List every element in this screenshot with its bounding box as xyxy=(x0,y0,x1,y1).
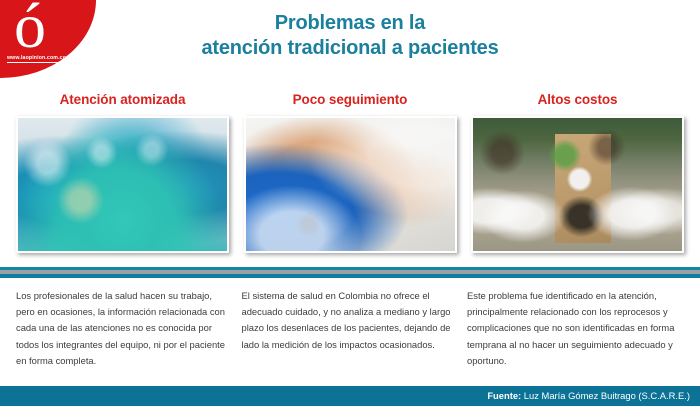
photo-frame-1 xyxy=(16,116,229,253)
page-title-line-2: atención tradicional a pacientes xyxy=(110,36,590,61)
nurse-holding-elderly-patient-hand-photo xyxy=(246,118,455,251)
body-column-2: El sistema de salud en Colombia no ofrec… xyxy=(242,288,459,369)
body-column-3: Este problema fue identificado en la ate… xyxy=(467,288,684,369)
page-title-line-1: Problemas en la xyxy=(110,11,590,36)
source-credit: Fuente: Luz María Gómez Buitrago (S.C.A.… xyxy=(487,390,690,401)
photo-frame-2 xyxy=(244,116,457,253)
column-body-text-3: Este problema fue identificado en la ate… xyxy=(467,288,684,369)
body-column-1: Los profesionales de la salud hacen su t… xyxy=(16,288,233,369)
laopinion-logo: ó www.laopinion.com.co xyxy=(0,0,96,78)
column-atencion-atomizada: Atención atomizada xyxy=(16,92,229,253)
column-heading-2: Poco seguimiento xyxy=(244,92,457,116)
divider-line-bottom xyxy=(0,274,700,278)
column-heading-3: Altos costos xyxy=(471,92,684,116)
section-divider xyxy=(0,267,700,281)
column-poco-seguimiento: Poco seguimiento xyxy=(244,92,457,253)
photo-frame-3 xyxy=(471,116,684,253)
logo-o-acute-glyph: ó xyxy=(14,0,70,56)
source-value: Luz María Gómez Buitrago (S.C.A.R.E.) xyxy=(524,390,690,401)
footer-bar: Fuente: Luz María Gómez Buitrago (S.C.A.… xyxy=(0,386,700,406)
column-heading-1: Atención atomizada xyxy=(16,92,229,116)
columns-body-section: Los profesionales de la salud hacen su t… xyxy=(0,288,700,369)
column-body-text-2: El sistema de salud en Colombia no ofrec… xyxy=(242,288,459,353)
columns-top-section: Atención atomizada Poco seguimiento Alto… xyxy=(0,92,700,253)
column-body-text-1: Los profesionales de la salud hacen su t… xyxy=(16,288,233,369)
health-students-protest-march-photo xyxy=(473,118,682,251)
column-altos-costos: Altos costos xyxy=(471,92,684,253)
page-title: Problemas en la atención tradicional a p… xyxy=(110,11,590,61)
source-label: Fuente: xyxy=(487,390,521,401)
surgical-team-operating-room-photo xyxy=(18,118,227,251)
infographic-root: ó www.laopinion.com.co Problemas en la a… xyxy=(0,0,700,406)
logo-website-url: www.laopinion.com.co xyxy=(7,55,66,63)
